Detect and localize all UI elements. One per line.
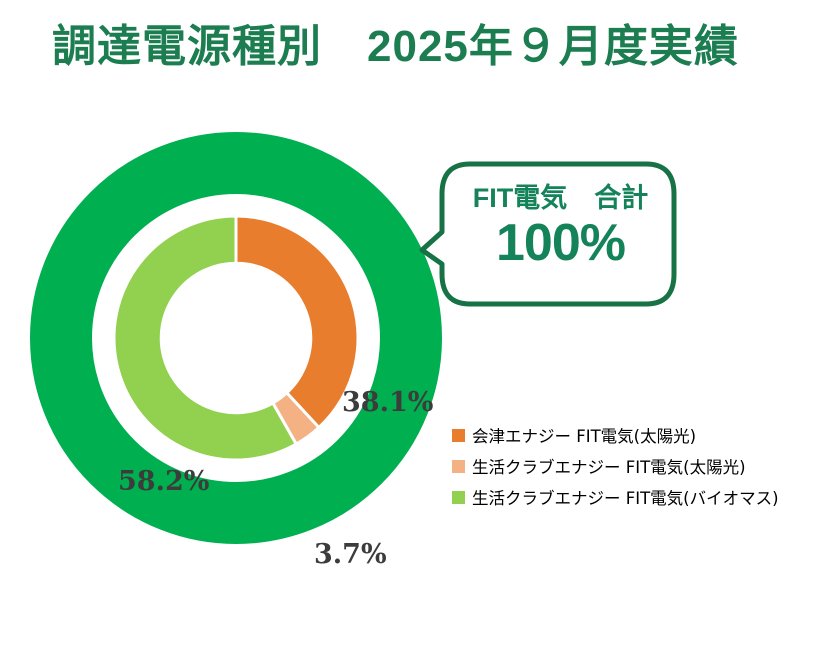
data-label-seikatsu-biomass: 58.2% xyxy=(118,466,209,497)
chart-legend: 会津エナジー FIT電気(太陽光) 生活クラブエナジー FIT電気(太陽光) 生… xyxy=(452,424,812,517)
legend-item-seikatsu-biomass[interactable]: 生活クラブエナジー FIT電気(バイオマス) xyxy=(452,486,812,508)
callout-bubble: FIT電気 合計 100% xyxy=(418,160,680,308)
legend-swatch-icon xyxy=(452,429,465,442)
segment-aizu-solar xyxy=(236,216,358,428)
legend-item-label: 会津エナジー FIT電気(太陽光) xyxy=(472,423,696,447)
inner-donut-segments xyxy=(114,216,358,460)
callout-bubble-shape xyxy=(418,160,680,308)
outer-ring-total-label: 100% xyxy=(207,608,320,652)
data-label-aizu-solar: 38.1% xyxy=(342,387,433,418)
legend-item-seikatsu-solar[interactable]: 生活クラブエナジー FIT電気(太陽光) xyxy=(452,455,812,477)
chart-page: 調達電源種別 2025年９月度実績 38.1% 3.7% 58.2% 100% xyxy=(0,0,825,572)
legend-swatch-icon xyxy=(452,460,465,473)
legend-swatch-icon xyxy=(452,491,465,504)
donut-chart-svg xyxy=(22,128,452,548)
data-label-seikatsu-solar: 3.7% xyxy=(314,539,387,570)
donut-chart: 38.1% 3.7% 58.2% 100% xyxy=(22,128,452,548)
legend-item-aizu-solar[interactable]: 会津エナジー FIT電気(太陽光) xyxy=(452,424,812,446)
legend-item-label: 生活クラブエナジー FIT電気(バイオマス) xyxy=(472,485,779,509)
legend-item-label: 生活クラブエナジー FIT電気(太陽光) xyxy=(472,454,746,478)
page-title: 調達電源種別 2025年９月度実績 xyxy=(52,22,739,73)
